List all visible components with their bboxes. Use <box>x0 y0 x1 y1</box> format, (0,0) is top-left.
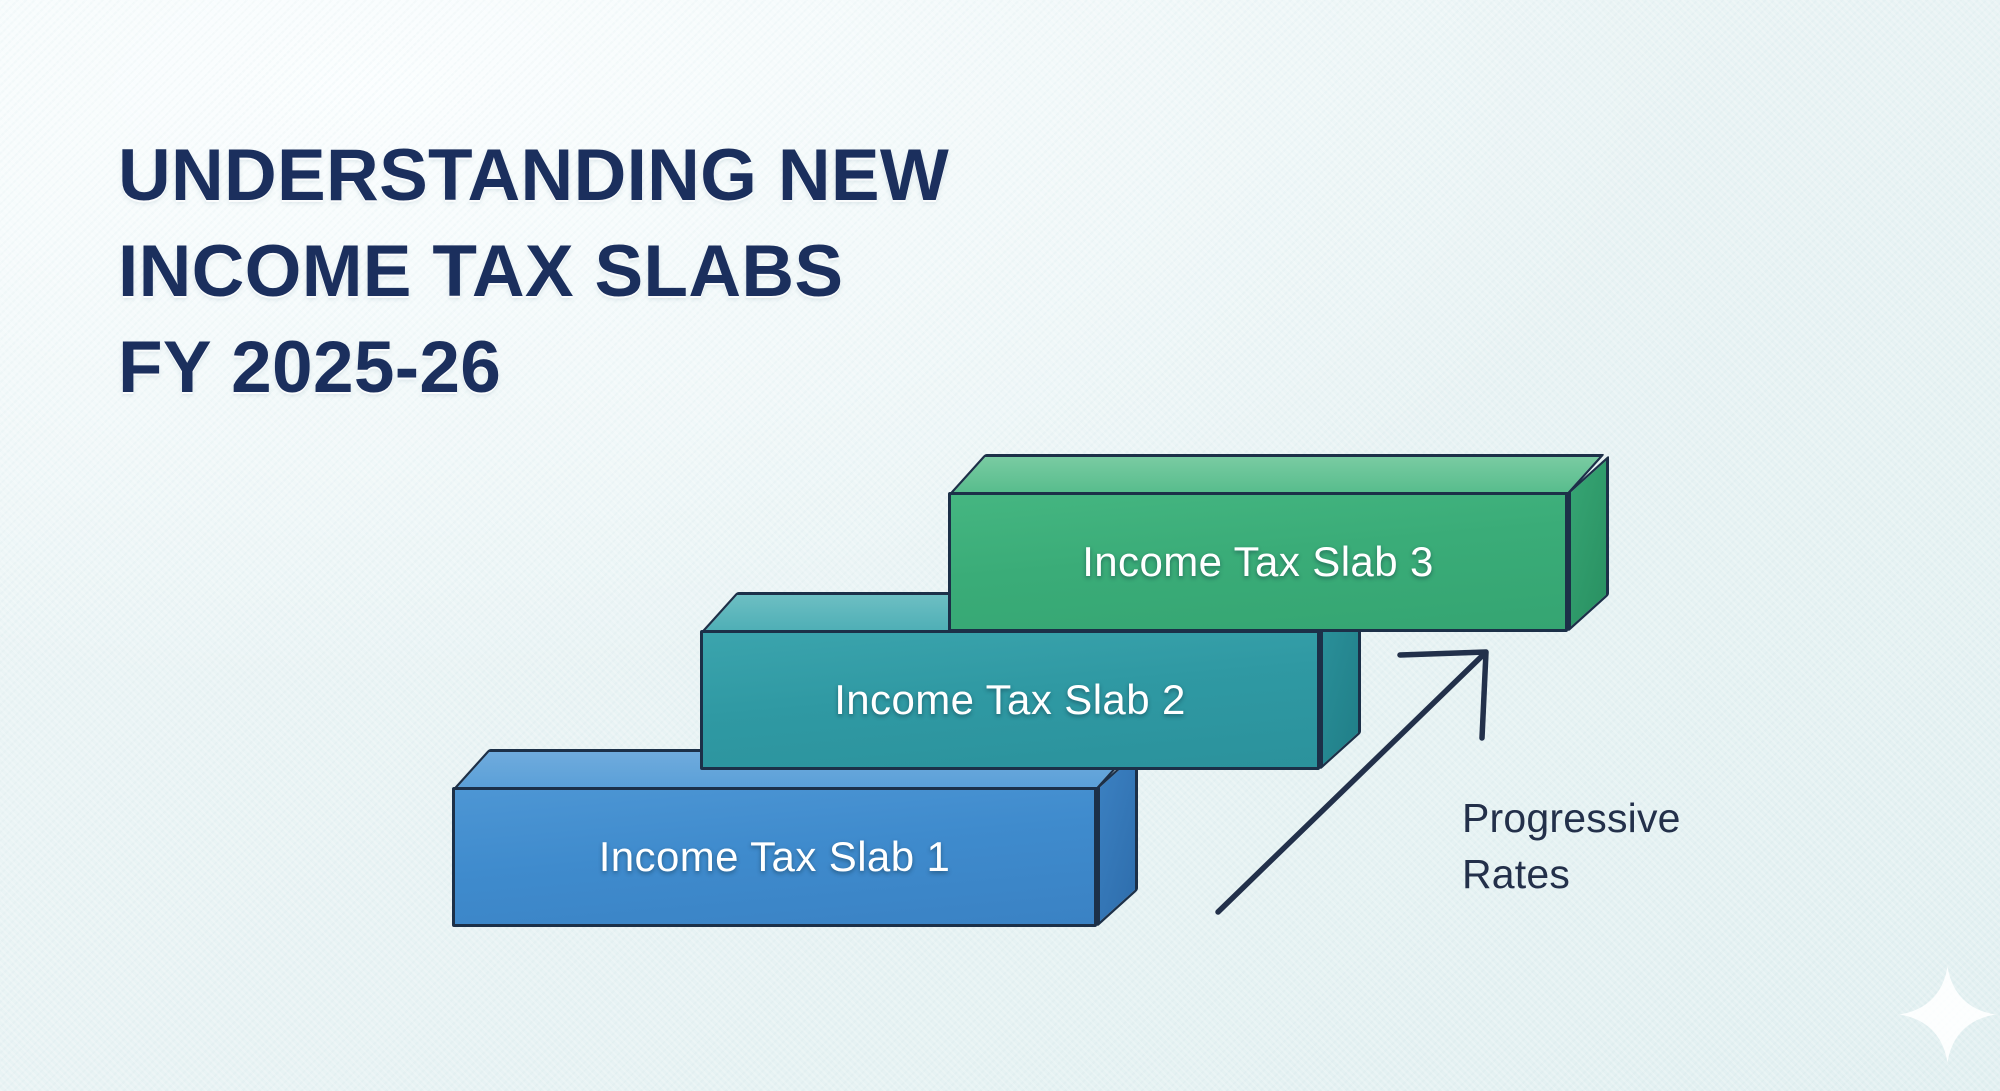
slab-3-front-face: Income Tax Slab 3 <box>948 492 1568 632</box>
page-title: UNDERSTANDING NEW INCOME TAX SLABS FY 20… <box>118 128 949 416</box>
title-line-1: UNDERSTANDING NEW <box>118 128 949 224</box>
slab-3-top-face <box>948 454 1605 495</box>
slab-block-1: Income Tax Slab 1 <box>452 787 1097 927</box>
title-line-3: FY 2025-26 <box>118 320 949 416</box>
slab-2-label: Income Tax Slab 2 <box>834 676 1186 724</box>
slab-1-label: Income Tax Slab 1 <box>599 833 951 881</box>
slab-1-front-face: Income Tax Slab 1 <box>452 787 1097 927</box>
annotation-line-1: Progressive <box>1462 790 1752 846</box>
sparkle-icon <box>1895 962 2000 1067</box>
title-line-2: INCOME TAX SLABS <box>118 224 949 320</box>
slab-2-front-face: Income Tax Slab 2 <box>700 630 1320 770</box>
slab-block-2: Income Tax Slab 2 <box>700 630 1320 770</box>
slab-block-3: Income Tax Slab 3 <box>948 492 1568 632</box>
slab-3-label: Income Tax Slab 3 <box>1082 538 1434 586</box>
progressive-rates-annotation: Progressive Rates <box>1462 790 1752 902</box>
annotation-line-2: Rates <box>1462 846 1752 902</box>
infographic-canvas: UNDERSTANDING NEW INCOME TAX SLABS FY 20… <box>0 0 2000 1091</box>
